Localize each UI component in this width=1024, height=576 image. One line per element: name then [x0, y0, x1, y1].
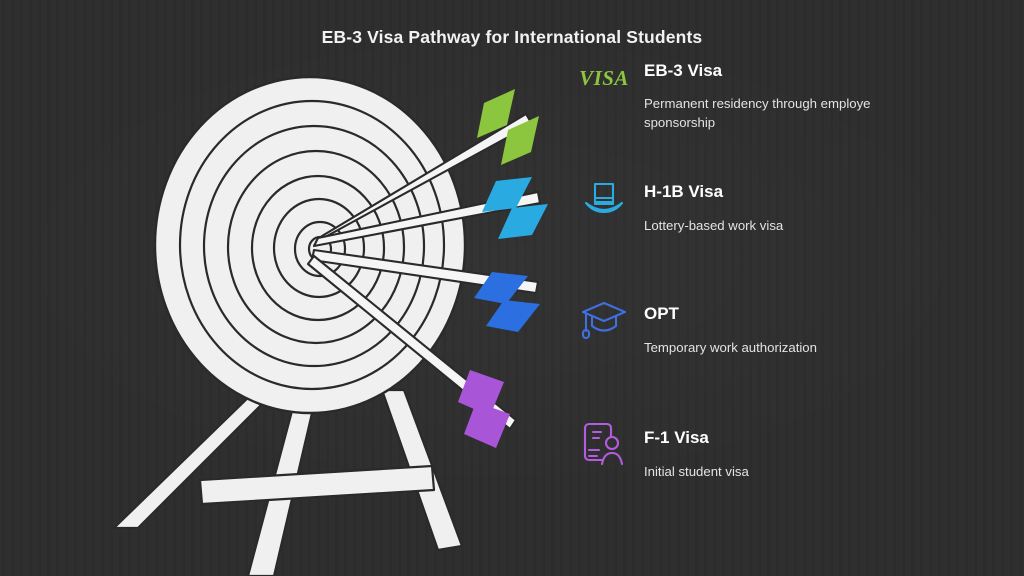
- legend-title-eb3-visa: EB-3 Visa: [644, 61, 722, 81]
- legend-title-h1b-visa: H-1B Visa: [644, 182, 723, 202]
- student-id-card-icon: [572, 418, 636, 466]
- infographic-canvas: EB-3 Visa Pathway for International Stud…: [0, 0, 1024, 576]
- target-svg: [60, 60, 580, 576]
- visa-wordmark-text: VISA: [579, 66, 629, 91]
- target-stand: [114, 390, 462, 576]
- top-hat-icon: [572, 174, 636, 222]
- arrow-opt-fletching-lower: [486, 300, 540, 332]
- legend-desc-opt: Temporary work authorization: [644, 338, 944, 357]
- target-illustration: [60, 60, 580, 576]
- graduation-cap-icon: [572, 296, 636, 344]
- legend-desc-eb3-visa: Permanent residency through employe spon…: [644, 94, 944, 132]
- legend-title-opt: OPT: [644, 304, 679, 324]
- legend-title-f1-visa: F-1 Visa: [644, 428, 709, 448]
- legend-desc-f1-visa: Initial student visa: [644, 462, 944, 481]
- legend-desc-h1b-visa: Lottery-based work visa: [644, 216, 944, 235]
- stand-leg-left: [114, 390, 276, 528]
- target-board: [155, 77, 465, 413]
- visa-wordmark-icon: VISA: [572, 54, 636, 102]
- legend-list: VISA EB-3 Visa Permanent residency throu…: [572, 54, 972, 524]
- stand-crossbar: [200, 466, 434, 504]
- page-title: EB-3 Visa Pathway for International Stud…: [0, 27, 1024, 48]
